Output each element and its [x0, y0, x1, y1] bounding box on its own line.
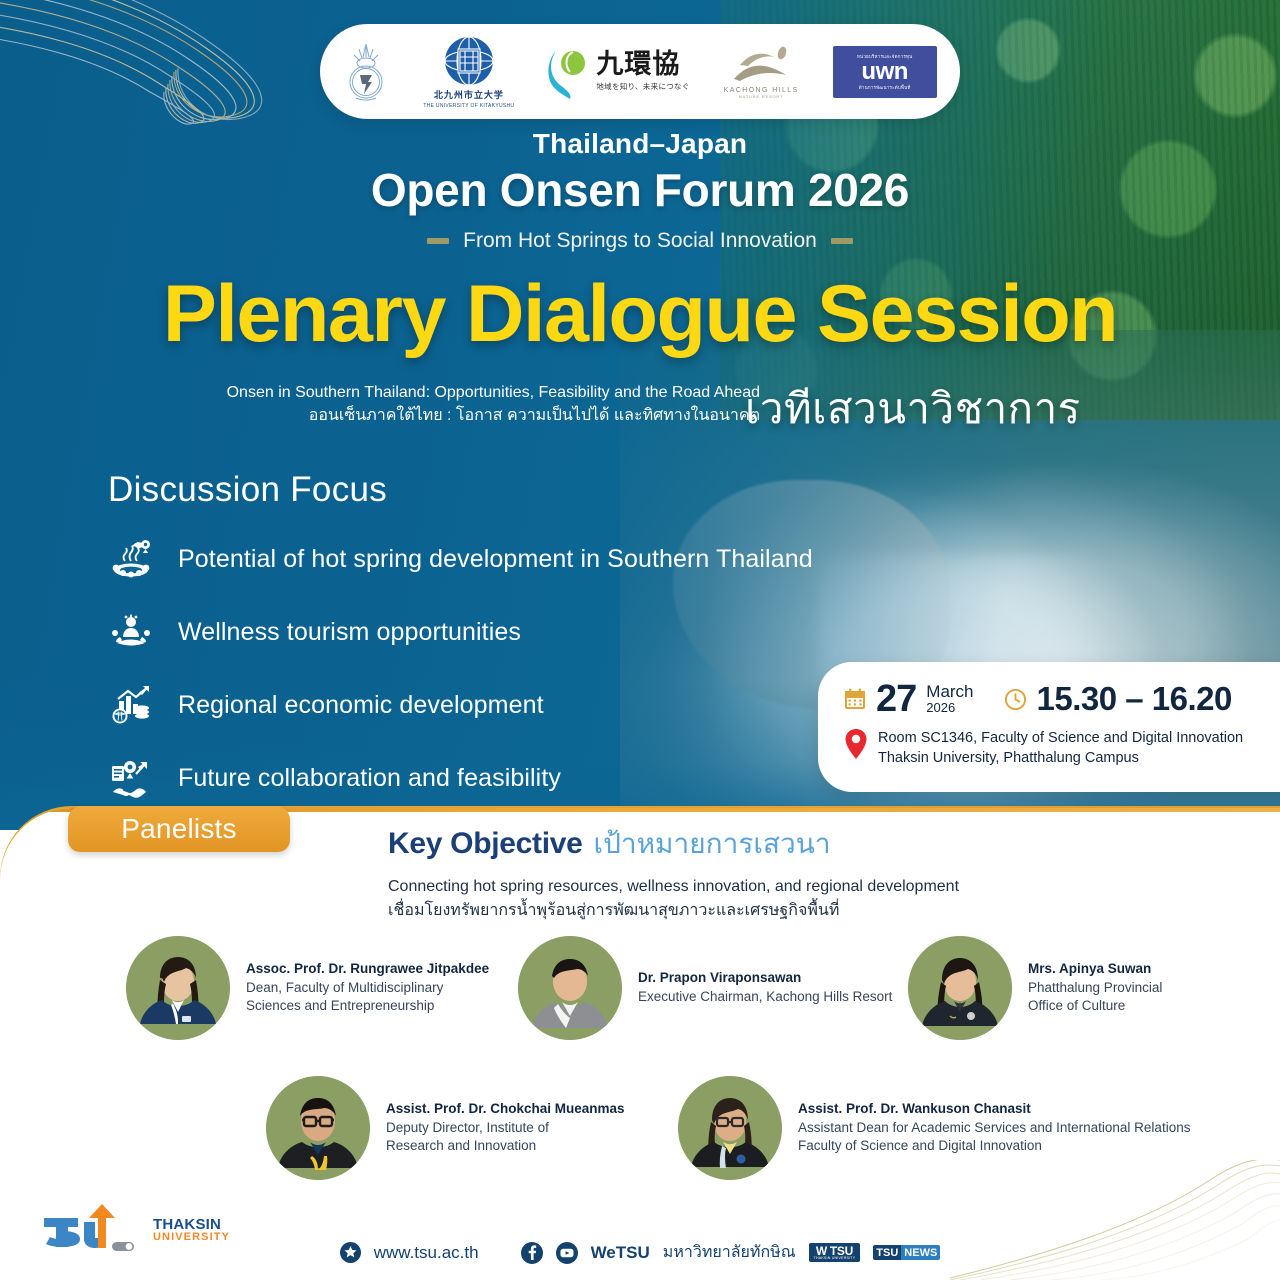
discussion-focus-heading: Discussion Focus: [108, 470, 813, 510]
wetsu-thai-label: มหาวิทยาลัยทักษิณ: [663, 1240, 796, 1265]
event-tagline: From Hot Springs to Social Innovation: [463, 229, 817, 253]
event-time: 15.30 – 16.20: [1037, 680, 1232, 718]
uwn-caption-top: หน่วยบริหารและจัดการทุน: [857, 53, 913, 60]
website-link[interactable]: www.tsu.ac.th: [374, 1243, 479, 1263]
kitakyushu-caption-jp: 北九州市立大学: [434, 88, 504, 101]
key-objective-en: Key Objective: [388, 827, 583, 861]
dash-right-icon: [831, 238, 853, 244]
kachong-hills-mark-icon: [730, 45, 792, 85]
economic-growth-icon: [108, 682, 154, 728]
focus-item: Potential of hot spring development in S…: [108, 536, 813, 582]
avatar: [908, 936, 1012, 1040]
location-text: Room SC1346, Faculty of Science and Digi…: [878, 728, 1243, 768]
panelist-role-line-2: Office of Culture: [1028, 997, 1162, 1016]
tsu-line-1: THAKSIN: [153, 1217, 230, 1232]
tsu-news-badge-b: NEWS: [901, 1245, 940, 1260]
panelist-role-line-1: Assistant Dean for Academic Services and…: [798, 1119, 1190, 1138]
panelist-role-line-1: Phatthalung Provincial: [1028, 979, 1162, 998]
tagline-row: From Hot Springs to Social Innovation: [0, 229, 1280, 253]
key-objective-th: เป้าหมายการเสวนา: [594, 822, 831, 866]
session-subtitle: Onsen in Southern Thailand: Opportunitie…: [110, 382, 760, 427]
panelist-role-line-1: Dean, Faculty of Multidisciplinary: [246, 979, 489, 998]
kyukankyo-caption-jp: 九環協: [596, 51, 689, 78]
collaboration-handshake-icon: [108, 755, 154, 801]
facebook-icon[interactable]: [521, 1242, 543, 1264]
panelist-name: Assist. Prof. Dr. Chokchai Mueanmas: [386, 1100, 625, 1119]
thaksin-university-emblem-icon: [343, 41, 389, 103]
panelist-info: Assist. Prof. Dr. Chokchai Mueanmas Depu…: [386, 1100, 625, 1157]
logo-kyukankyo: 九環協 地域を知り、未来につなぐ: [548, 45, 689, 99]
panelist-card: Mrs. Apinya Suwan Phatthalung Provincial…: [908, 936, 1162, 1040]
avatar: [678, 1076, 782, 1180]
focus-item-label: Regional economic development: [178, 691, 544, 720]
subtitle-th: ออนเซ็นภาคใต้ไทย : โอกาส ความเป็นไปได้ แ…: [110, 404, 760, 427]
event-poster: 北九州市立大学 THE UNIVERSITY OF KITAKYUSHU 九環協…: [0, 0, 1280, 1280]
wetsu-label: WeTSU: [591, 1243, 650, 1263]
objective-desc-th: เชื่อมโยงทรัพยากรน้ำพุร้อนสู่การพัฒนาสุข…: [388, 899, 959, 923]
panelist-role-line-2: Sciences and Entrepreneurship: [246, 997, 489, 1016]
location-line-1: Room SC1346, Faculty of Science and Digi…: [878, 728, 1243, 748]
panelist-info: Dr. Prapon Viraponsawan Executive Chairm…: [638, 969, 892, 1007]
objective-desc-en: Connecting hot spring resources, wellnes…: [388, 875, 959, 899]
event-day: 27: [876, 680, 916, 718]
panelist-info: Assoc. Prof. Dr. Rungrawee Jitpakdee Dea…: [246, 960, 489, 1017]
uwn-caption-bottom: ด้านการพัฒนาระดับพื้นที่: [859, 84, 911, 91]
key-objective-description: Connecting hot spring resources, wellnes…: [388, 875, 959, 923]
panelist-info: Mrs. Apinya Suwan Phatthalung Provincial…: [1028, 960, 1162, 1017]
hero-text-block: Thailand–Japan Open Onsen Forum 2026 Fro…: [0, 128, 1280, 253]
dash-left-icon: [427, 238, 449, 244]
panelist-card: Assist. Prof. Dr. Chokchai Mueanmas Depu…: [266, 1076, 678, 1180]
wellness-meditation-icon: [108, 609, 154, 655]
calendar-icon: [844, 688, 866, 710]
key-objective-heading: Key Objective เป้าหมายการเสวนา: [388, 822, 959, 866]
avatar: [266, 1076, 370, 1180]
tsu-news-badge-a: TSU: [873, 1245, 901, 1260]
key-objective-block: Key Objective เป้าหมายการเสวนา Connectin…: [388, 822, 959, 923]
hot-spring-icon: [108, 536, 154, 582]
avatar: [126, 936, 230, 1040]
focus-item: Regional economic development: [108, 682, 813, 728]
panelist-name: Assoc. Prof. Dr. Rungrawee Jitpakdee: [246, 960, 489, 979]
kyukankyo-mark-icon: [548, 45, 590, 99]
kachong-hills-caption-sub: NATURE RESORT: [739, 94, 783, 99]
event-info-card: 27 March 2026 15.30 – 16.20 Room SC1: [818, 662, 1280, 792]
tsu-news-badge: TSU NEWS: [873, 1245, 940, 1260]
panelist-info: Assist. Prof. Dr. Wankuson Chanasit Assi…: [798, 1100, 1190, 1157]
thai-session-title: เวทีเสวนาวิชาการ: [745, 376, 1081, 442]
logo-thaksin-university: [343, 41, 389, 103]
time-group: 15.30 – 16.20: [1004, 680, 1232, 718]
kyukankyo-caption-sub: 地域を知り、未来につなぐ: [596, 81, 689, 92]
location-line-2: Thaksin University, Phatthalung Campus: [878, 748, 1243, 768]
forum-title: Open Onsen Forum 2026: [0, 163, 1280, 217]
wetsu-badge: W TSU THAKSIN UNIVERSITY: [809, 1243, 861, 1262]
focus-item-label: Wellness tourism opportunities: [178, 618, 521, 647]
logo-kachong-hills: KACHONG HILLS NATURE RESORT: [724, 45, 799, 99]
subtitle-en: Onsen in Southern Thailand: Opportunitie…: [110, 382, 760, 404]
focus-item-label: Future collaboration and feasibility: [178, 764, 561, 793]
focus-item: Future collaboration and feasibility: [108, 755, 813, 801]
kitakyushu-caption-en: THE UNIVERSITY OF KITAKYUSHU: [423, 103, 514, 109]
panelist-role-line-2: Faculty of Science and Digital Innovatio…: [798, 1137, 1190, 1156]
panelist-name: Mrs. Apinya Suwan: [1028, 960, 1162, 979]
date-time-row: 27 March 2026 15.30 – 16.20: [844, 680, 1274, 718]
page-title: Plenary Dialogue Session: [0, 274, 1280, 355]
footer-bar: www.tsu.ac.th WeTSU มหาวิทยาลัยทักษิณ W …: [0, 1240, 1280, 1265]
panelists-tab[interactable]: Panelists: [68, 806, 290, 852]
location-row: Room SC1346, Faculty of Science and Digi…: [844, 728, 1274, 768]
panelist-role-line-1: Executive Chairman, Kachong Hills Resort: [638, 988, 892, 1007]
panelist-name: Dr. Prapon Viraponsawan: [638, 969, 892, 988]
discussion-focus-section: Discussion Focus: [108, 470, 813, 801]
uwn-caption-main: uwn: [861, 60, 908, 84]
discussion-focus-list: Potential of hot spring development in S…: [108, 536, 813, 801]
avatar: [518, 936, 622, 1040]
panelists-row-1: Assoc. Prof. Dr. Rungrawee Jitpakdee Dea…: [126, 936, 1206, 1040]
panelists-row-2: Assist. Prof. Dr. Chokchai Mueanmas Depu…: [266, 1076, 1226, 1180]
wetsu-badge-sub: THAKSIN UNIVERSITY: [814, 1257, 856, 1261]
kachong-hills-caption: KACHONG HILLS: [724, 87, 799, 94]
event-month: March: [926, 683, 973, 701]
panelist-card: Assoc. Prof. Dr. Rungrawee Jitpakdee Dea…: [126, 936, 518, 1040]
panelist-card: Dr. Prapon Viraponsawan Executive Chairm…: [518, 936, 908, 1040]
event-kicker: Thailand–Japan: [0, 128, 1280, 160]
partner-logo-card: 北九州市立大学 THE UNIVERSITY OF KITAKYUSHU 九環協…: [320, 24, 960, 119]
panelist-role-line-2: Research and Innovation: [386, 1137, 625, 1156]
kitakyushu-university-logo-icon: [443, 35, 495, 87]
clock-icon: [1004, 688, 1027, 711]
logo-uwn: หน่วยบริหารและจัดการทุน uwn ด้านการพัฒนา…: [833, 46, 937, 98]
focus-item-label: Potential of hot spring development in S…: [178, 545, 813, 574]
panelist-card: Assist. Prof. Dr. Wankuson Chanasit Assi…: [678, 1076, 1190, 1180]
focus-item: Wellness tourism opportunities: [108, 609, 813, 655]
date-group: 27 March 2026: [844, 680, 974, 718]
event-year: 2026: [926, 701, 973, 715]
globe-star-icon[interactable]: [340, 1242, 361, 1263]
panelist-role-line-1: Deputy Director, Institute of: [386, 1119, 625, 1138]
location-pin-icon: [844, 728, 868, 760]
youtube-icon[interactable]: [556, 1242, 578, 1264]
panelist-name: Assist. Prof. Dr. Wankuson Chanasit: [798, 1100, 1190, 1119]
logo-university-of-kitakyushu: 北九州市立大学 THE UNIVERSITY OF KITAKYUSHU: [423, 35, 514, 109]
